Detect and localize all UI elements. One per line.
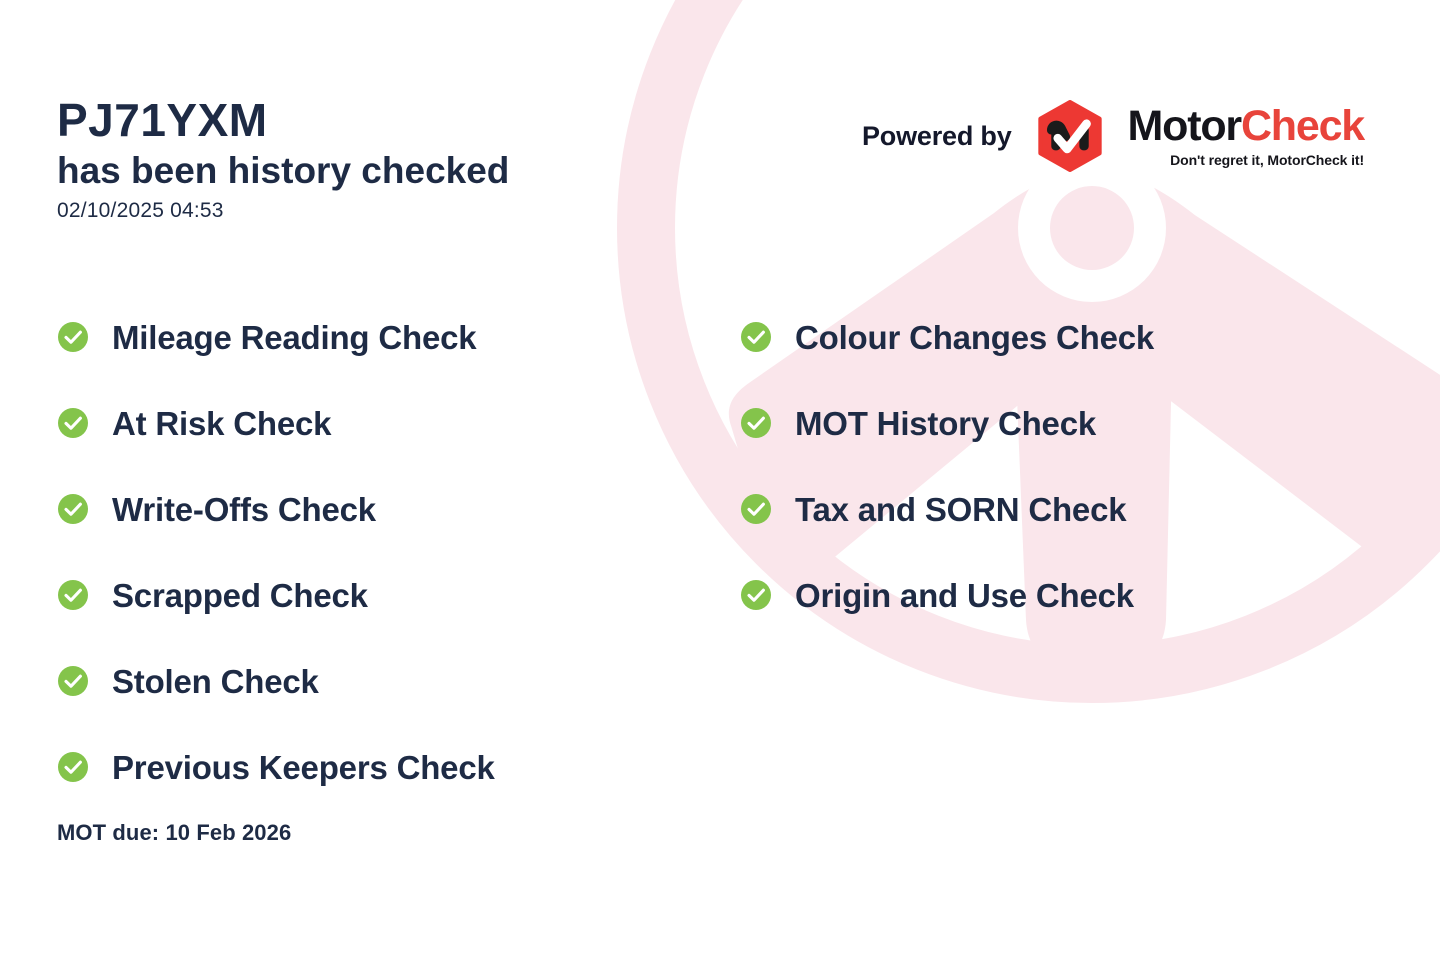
check-circle-icon [57, 321, 89, 353]
check-label: MOT History Check [795, 407, 1096, 440]
check-label: At Risk Check [112, 407, 331, 440]
wordmark-motor: Motor [1128, 102, 1241, 150]
check-row: Scrapped Check [57, 552, 697, 638]
check-label: Stolen Check [112, 665, 319, 698]
powered-by-branding: Powered by MotorCheck Don't regret it, M… [862, 100, 1364, 172]
check-label: Tax and SORN Check [795, 493, 1126, 526]
check-circle-icon [740, 321, 772, 353]
history-check-report: PJ71YXM has been history checked 02/10/2… [0, 0, 1440, 960]
check-label: Mileage Reading Check [112, 321, 476, 354]
wordmark-check: Check [1241, 102, 1364, 150]
check-row: Tax and SORN Check [740, 466, 1400, 552]
check-row: Previous Keepers Check [57, 724, 697, 810]
check-row: MOT History Check [740, 380, 1400, 466]
check-label: Colour Changes Check [795, 321, 1154, 354]
check-circle-icon [740, 493, 772, 525]
mot-due-text: MOT due: 10 Feb 2026 [57, 820, 291, 846]
report-header: PJ71YXM has been history checked 02/10/2… [57, 96, 697, 223]
check-label: Write-Offs Check [112, 493, 376, 526]
check-row: Write-Offs Check [57, 466, 697, 552]
check-circle-icon [740, 407, 772, 439]
check-label: Scrapped Check [112, 579, 368, 612]
checklist-column-left: Mileage Reading CheckAt Risk CheckWrite-… [57, 294, 697, 810]
check-row: Mileage Reading Check [57, 294, 697, 380]
check-label: Previous Keepers Check [112, 751, 495, 784]
check-circle-icon [57, 665, 89, 697]
check-circle-icon [57, 579, 89, 611]
check-label: Origin and Use Check [795, 579, 1134, 612]
motorcheck-hexagon-logo-icon [1034, 100, 1106, 172]
check-row: At Risk Check [57, 380, 697, 466]
checklist-column-right: Colour Changes CheckMOT History CheckTax… [740, 294, 1400, 638]
check-row: Origin and Use Check [740, 552, 1400, 638]
registration-number: PJ71YXM [57, 96, 697, 146]
check-circle-icon [57, 407, 89, 439]
check-row: Stolen Check [57, 638, 697, 724]
check-row: Colour Changes Check [740, 294, 1400, 380]
check-circle-icon [740, 579, 772, 611]
powered-by-label: Powered by [862, 121, 1012, 152]
report-headline: has been history checked [57, 148, 697, 193]
check-circle-icon [57, 751, 89, 783]
motorcheck-wordmark: MotorCheck Don't regret it, MotorCheck i… [1128, 105, 1364, 168]
check-circle-icon [57, 493, 89, 525]
brand-tagline: Don't regret it, MotorCheck it! [1128, 152, 1364, 168]
report-timestamp: 02/10/2025 04:53 [57, 199, 697, 223]
